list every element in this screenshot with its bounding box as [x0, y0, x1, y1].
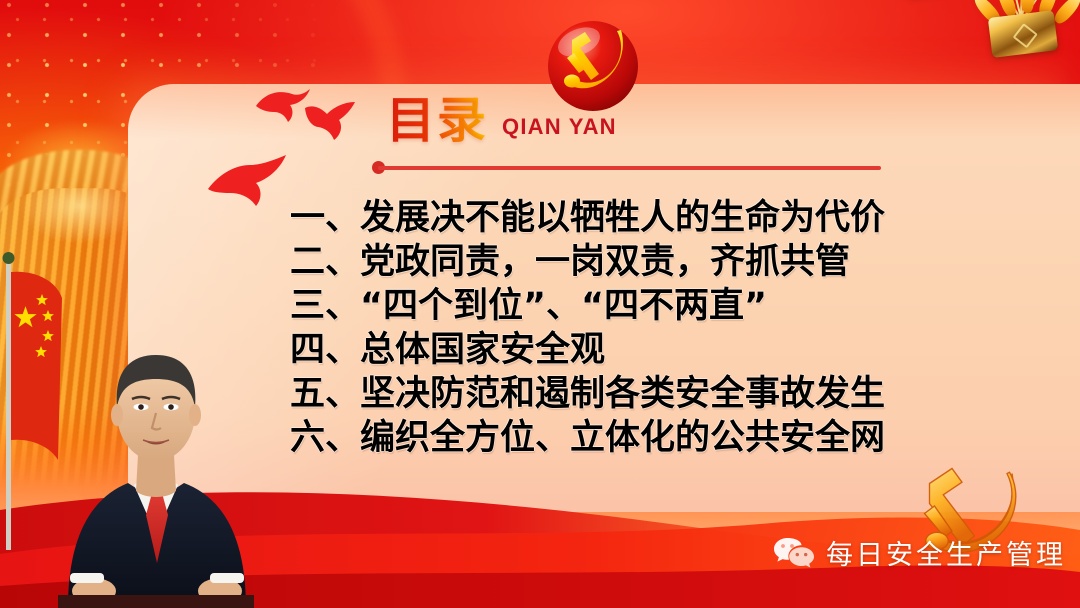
slide-canvas: 目录 QIAN YAN 一、 发展决不能以牺牲人的生命为代价 二、 党政同责，一… [0, 0, 1080, 608]
list-item-number: 五、 [290, 372, 360, 416]
party-emblem-hammer-sickle-icon [541, 14, 645, 118]
watermark-account-name: 每日安全生产管理 [826, 533, 1066, 572]
flying-dove-icon-3 [206, 155, 298, 207]
divider-line [378, 166, 881, 170]
list-item[interactable]: 四、 总体国家安全观 [290, 328, 1040, 372]
list-item-label: 总体国家安全观 [360, 328, 605, 372]
list-item-number: 六、 [290, 416, 360, 460]
flying-dove-icon-2 [303, 100, 359, 142]
page-title: 目录 [386, 96, 488, 145]
list-item-label: 坚决防范和遏制各类安全事故发生 [360, 372, 885, 416]
list-item[interactable]: 三、 “四个到位”、“四不两直” [290, 284, 1040, 328]
speaker-portrait-photo [58, 295, 254, 608]
list-item-number: 一、 [290, 196, 360, 240]
list-item[interactable]: 二、 党政同责，一岗双责，齐抓共管 [290, 240, 1040, 284]
list-item-number: 三、 [290, 284, 360, 328]
watermark: 每日安全生产管理 [773, 533, 1066, 572]
list-item[interactable]: 一、 发展决不能以牺牲人的生命为代价 [290, 196, 1040, 240]
list-item[interactable]: 六、 编织全方位、立体化的公共安全网 [290, 416, 1040, 460]
list-item-label: 党政同责，一岗双责，齐抓共管 [360, 240, 850, 284]
list-item-number: 二、 [290, 240, 360, 284]
wechat-icon [773, 537, 815, 569]
list-item-label: “四个到位”、“四不两直” [360, 284, 767, 328]
list-item-number: 四、 [290, 328, 360, 372]
list-item[interactable]: 五、 坚决防范和遏制各类安全事故发生 [290, 372, 1040, 416]
table-of-contents-list: 一、 发展决不能以牺牲人的生命为代价 二、 党政同责，一岗双责，齐抓共管 三、 … [290, 196, 1040, 461]
list-item-label: 发展决不能以牺牲人的生命为代价 [360, 196, 885, 240]
list-item-label: 编织全方位、立体化的公共安全网 [360, 416, 885, 460]
